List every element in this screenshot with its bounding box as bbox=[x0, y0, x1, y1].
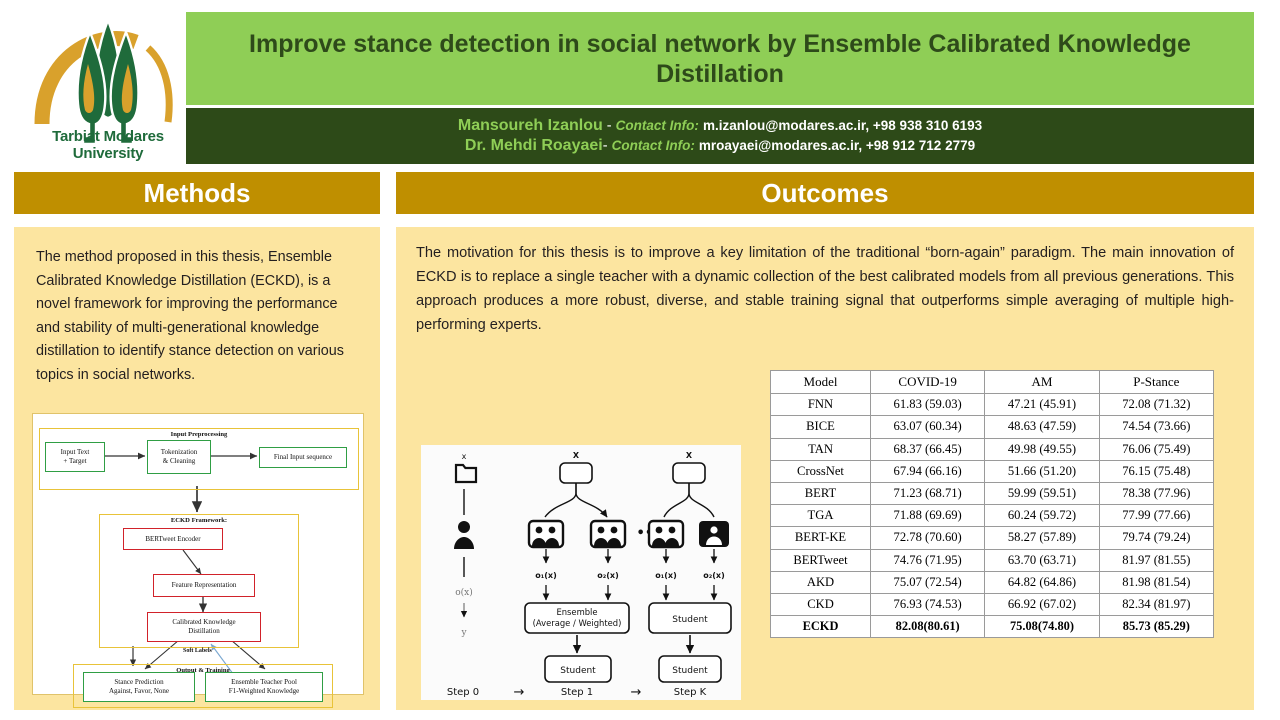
logo-wordmark: Tarbiat Modares University bbox=[28, 128, 188, 162]
flow-node-ensemble-teacher-pool: Ensemble Teacher PoolF1-Weighted Knowled… bbox=[205, 672, 323, 702]
author-1-dash: - bbox=[603, 118, 616, 134]
cell-pstance: 72.08 (71.32) bbox=[1099, 394, 1213, 416]
author-2-contact-value: mroayaei@modares.ac.ir, +98 912 712 2779 bbox=[699, 138, 975, 153]
flow-node-label-tokenization: Tokenization& Cleaning bbox=[161, 448, 197, 465]
flow-group-label-0: Input Preprocessing bbox=[40, 431, 358, 438]
stepk-o1-label: o₁(x) bbox=[655, 571, 676, 580]
cell-model: FNN bbox=[771, 394, 871, 416]
flow-node-final-input-sequence: Final Input sequence bbox=[259, 447, 347, 468]
student-top-stepk-label: Student bbox=[672, 615, 708, 625]
cell-am: 49.98 (49.55) bbox=[985, 438, 1099, 460]
cell-am: 51.66 (51.20) bbox=[985, 460, 1099, 482]
cell-model: CKD bbox=[771, 593, 871, 615]
author-line-2: Dr. Mehdi Roayaei- Contact Info: mroayae… bbox=[465, 136, 975, 156]
university-logo: Tarbiat Modares University bbox=[28, 12, 188, 164]
cell-am: 60.24 (59.72) bbox=[985, 505, 1099, 527]
flow-node-input-text: Input Text+ Target bbox=[45, 442, 105, 472]
cell-covid: 61.83 (59.03) bbox=[871, 394, 985, 416]
author-line-1: Mansoureh Izanlou - Contact Info: m.izan… bbox=[458, 116, 982, 136]
authors-banner: Mansoureh Izanlou - Contact Info: m.izan… bbox=[186, 108, 1254, 164]
poster-root: Tarbiat Modares University Improve stanc… bbox=[0, 0, 1280, 720]
cell-covid: 67.94 (66.16) bbox=[871, 460, 985, 482]
cell-am: 66.92 (67.02) bbox=[985, 593, 1099, 615]
flow-node-calibrated-knowledge-distillation: Calibrated KnowledgeDistillation bbox=[147, 612, 261, 642]
col-header-pstance: P-Stance bbox=[1099, 371, 1213, 394]
step0-column: o(x) y bbox=[454, 465, 476, 638]
cell-covid: 71.88 (69.69) bbox=[871, 505, 985, 527]
cell-pstance: 81.98 (81.54) bbox=[1099, 571, 1213, 593]
step-arrow-0: → bbox=[514, 685, 525, 700]
table-header-row: Model COVID-19 AM P-Stance bbox=[771, 371, 1214, 394]
step1-column: o₁(x) o₂(x) Ensemble (Average / Weighted… bbox=[525, 463, 629, 682]
logo-line-1: Tarbiat Modares bbox=[28, 128, 188, 145]
cell-model: BERT bbox=[771, 482, 871, 504]
cell-model: CrossNet bbox=[771, 460, 871, 482]
table-row: CKD76.93 (74.53)66.92 (67.02)82.34 (81.9… bbox=[771, 593, 1214, 615]
flow-node-label-final-input: Final Input sequence bbox=[274, 453, 332, 462]
table-row: FNN61.83 (59.03)47.21 (45.91)72.08 (71.3… bbox=[771, 394, 1214, 416]
cell-covid: 68.37 (66.45) bbox=[871, 438, 985, 460]
stepk-input-label: X bbox=[686, 451, 693, 460]
step1-o2-label: o₂(x) bbox=[597, 571, 618, 580]
cell-covid: 82.08(80.61) bbox=[871, 616, 985, 638]
flow-group-label-1: ECKD Framework: bbox=[100, 517, 298, 524]
methods-body-text: The method proposed in this thesis, Ense… bbox=[36, 246, 361, 387]
results-table-body: FNN61.83 (59.03)47.21 (45.91)72.08 (71.3… bbox=[771, 394, 1214, 638]
flow-node-bertweet-encoder: BERTweet Encoder bbox=[123, 528, 223, 550]
born-again-distillation-steps-diagram: x X X o(x) y bbox=[421, 445, 741, 700]
cell-am: 59.99 (59.51) bbox=[985, 482, 1099, 504]
cell-covid: 71.23 (68.71) bbox=[871, 482, 985, 504]
flow-node-label-ckd: Calibrated KnowledgeDistillation bbox=[172, 618, 235, 635]
cell-model: BICE bbox=[771, 416, 871, 438]
methods-panel: The method proposed in this thesis, Ense… bbox=[14, 227, 380, 710]
outcomes-section-header: Outcomes bbox=[396, 172, 1254, 214]
cell-covid: 75.07 (72.54) bbox=[871, 571, 985, 593]
cell-pstance: 81.97 (81.55) bbox=[1099, 549, 1213, 571]
cell-am: 48.63 (47.59) bbox=[985, 416, 1099, 438]
author-2-dash: - bbox=[603, 138, 612, 154]
step0-input-label: x bbox=[462, 452, 467, 461]
flow-node-label-stance-pred: Stance PredictionAgainst, Favor, None bbox=[109, 678, 169, 695]
ensemble-box-line1: Ensemble bbox=[556, 607, 597, 617]
cell-pstance: 76.15 (75.48) bbox=[1099, 460, 1213, 482]
col-header-covid: COVID-19 bbox=[871, 371, 985, 394]
step0-ox-label: o(x) bbox=[455, 587, 473, 598]
student-bottom-stepk-label: Student bbox=[672, 666, 708, 676]
cell-model: AKD bbox=[771, 571, 871, 593]
step1-input-label: X bbox=[573, 451, 580, 460]
cell-covid: 76.93 (74.53) bbox=[871, 593, 985, 615]
cell-model: TAN bbox=[771, 438, 871, 460]
col-header-model: Model bbox=[771, 371, 871, 394]
cell-am: 75.08(74.80) bbox=[985, 616, 1099, 638]
flow-node-label-bertweet: BERTweet Encoder bbox=[145, 535, 200, 544]
table-row: BERT-KE72.78 (70.60)58.27 (57.89)79.74 (… bbox=[771, 527, 1214, 549]
cell-model: BERT-KE bbox=[771, 527, 871, 549]
flow-node-stance-prediction: Stance PredictionAgainst, Favor, None bbox=[83, 672, 195, 702]
cell-model: ECKD bbox=[771, 616, 871, 638]
cell-pstance: 74.54 (73.66) bbox=[1099, 416, 1213, 438]
author-1-contact-value: m.izanlou@modares.ac.ir, +98 938 310 619… bbox=[703, 118, 982, 133]
table-row: TGA71.88 (69.69)60.24 (59.72)77.99 (77.6… bbox=[771, 505, 1214, 527]
methods-title: Methods bbox=[144, 178, 251, 209]
table-row: BICE63.07 (60.34)48.63 (47.59)74.54 (73.… bbox=[771, 416, 1214, 438]
step1-o1-label: o₁(x) bbox=[535, 571, 556, 580]
cell-pstance: 79.74 (79.24) bbox=[1099, 527, 1213, 549]
cell-model: BERTweet bbox=[771, 549, 871, 571]
author-1-name: Mansoureh Izanlou bbox=[458, 117, 603, 134]
ensemble-box-line2: (Average / Weighted) bbox=[533, 618, 622, 628]
step-label-0: Step 0 bbox=[447, 687, 479, 698]
cell-am: 47.21 (45.91) bbox=[985, 394, 1099, 416]
poster-title-banner: Improve stance detection in social netwo… bbox=[186, 12, 1254, 105]
table-row: BERTweet74.76 (71.95)63.70 (63.71)81.97 … bbox=[771, 549, 1214, 571]
step0-y-label: y bbox=[460, 628, 467, 638]
eckd-architecture-flowchart: Input Preprocessing Input Text+ Target T… bbox=[32, 413, 364, 695]
flow-node-tokenization: Tokenization& Cleaning bbox=[147, 440, 211, 474]
student-step1-label: Student bbox=[560, 666, 596, 676]
outcomes-body-text: The motivation for this thesis is to imp… bbox=[416, 241, 1234, 337]
flow-node-label-teacher-pool: Ensemble Teacher PoolF1-Weighted Knowled… bbox=[229, 678, 299, 695]
cell-pstance: 76.06 (75.49) bbox=[1099, 438, 1213, 460]
methods-section-header: Methods bbox=[14, 172, 380, 214]
flow-node-label-input-text: Input Text+ Target bbox=[61, 448, 90, 465]
col-header-am: AM bbox=[985, 371, 1099, 394]
cell-pstance: 78.38 (77.96) bbox=[1099, 482, 1213, 504]
stepk-o2-label: o₂(x) bbox=[703, 571, 724, 580]
step-label-k: Step K bbox=[674, 687, 707, 698]
step-arrow-1: → bbox=[631, 685, 642, 700]
flow-edge-label-soft-labels: Soft Labels bbox=[183, 648, 212, 654]
cell-pstance: 77.99 (77.66) bbox=[1099, 505, 1213, 527]
outcomes-title: Outcomes bbox=[761, 178, 888, 209]
step-diagram-graphic: x X X o(x) y bbox=[421, 445, 741, 700]
table-row: BERT71.23 (68.71)59.99 (59.51)78.38 (77.… bbox=[771, 482, 1214, 504]
poster-title: Improve stance detection in social netwo… bbox=[218, 29, 1222, 89]
cell-pstance: 85.73 (85.29) bbox=[1099, 616, 1213, 638]
cell-covid: 63.07 (60.34) bbox=[871, 416, 985, 438]
cell-model: TGA bbox=[771, 505, 871, 527]
table-row: AKD75.07 (72.54)64.82 (64.86)81.98 (81.5… bbox=[771, 571, 1214, 593]
flow-node-feature-representation: Feature Representation bbox=[153, 574, 255, 597]
outcomes-panel: The motivation for this thesis is to imp… bbox=[396, 227, 1254, 710]
cell-pstance: 82.34 (81.97) bbox=[1099, 593, 1213, 615]
author-2-name: Dr. Mehdi Roayaei bbox=[465, 137, 603, 154]
table-row: ECKD82.08(80.61)75.08(74.80)85.73 (85.29… bbox=[771, 616, 1214, 638]
cell-covid: 72.78 (70.60) bbox=[871, 527, 985, 549]
cell-am: 63.70 (63.71) bbox=[985, 549, 1099, 571]
author-1-contact-label: Contact Info: bbox=[616, 118, 699, 133]
step-label-1: Step 1 bbox=[561, 687, 593, 698]
cell-covid: 74.76 (71.95) bbox=[871, 549, 985, 571]
flow-node-label-feature-rep: Feature Representation bbox=[172, 581, 237, 590]
logo-line-2: University bbox=[28, 145, 188, 162]
cell-am: 58.27 (57.89) bbox=[985, 527, 1099, 549]
author-2-contact-label: Contact Info: bbox=[612, 138, 695, 153]
model-results-table: Model COVID-19 AM P-Stance FNN61.83 (59.… bbox=[770, 370, 1214, 638]
table-row: CrossNet67.94 (66.16)51.66 (51.20)76.15 … bbox=[771, 460, 1214, 482]
stepk-column: o₁(x) o₂(x) Student Student bbox=[649, 463, 731, 682]
cell-am: 64.82 (64.86) bbox=[985, 571, 1099, 593]
table-row: TAN68.37 (66.45)49.98 (49.55)76.06 (75.4… bbox=[771, 438, 1214, 460]
